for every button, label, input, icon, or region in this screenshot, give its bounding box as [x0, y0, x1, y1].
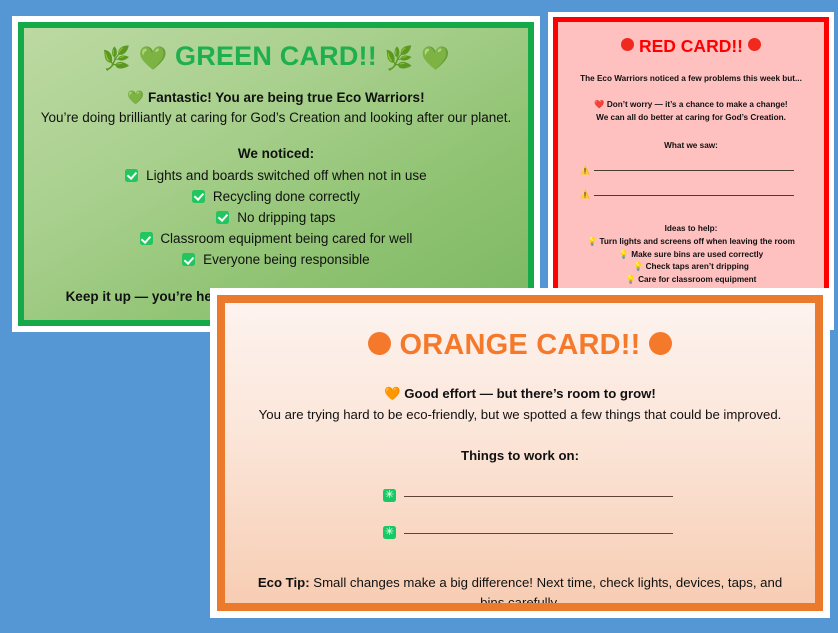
leaf-icon: 🌿: [102, 45, 131, 71]
orange-things-heading: Things to work on:: [247, 446, 793, 465]
red-card-title: RED CARD!!: [568, 36, 814, 57]
green-card-title: 🌿 💚 GREEN CARD!! 🌿 💚: [38, 41, 514, 72]
red-circle-icon: [748, 38, 761, 51]
orange-card-body: 🧡 Good effort — but there’s room to grow…: [247, 384, 793, 611]
red-card: RED CARD!! The Eco Warriors noticed a fe…: [548, 12, 834, 330]
red-idea-item: 💡 Check taps aren’t dripping: [568, 261, 814, 273]
orange-blank-rule[interactable]: [404, 495, 673, 497]
red-idea-label: Turn lights and screens off when leaving…: [600, 237, 795, 246]
red-blank-rule[interactable]: [594, 169, 794, 171]
red-idea-item: 💡 Make sure bins are used correctly: [568, 249, 814, 261]
lightbulb-icon: 💡: [619, 250, 629, 259]
red-intro: The Eco Warriors noticed a few problems …: [568, 73, 814, 85]
red-ideas-heading: Ideas to help:: [568, 223, 814, 235]
leaf-icon: 🌿: [385, 45, 414, 71]
checkbox-checked-icon: [125, 169, 138, 182]
warning-icon: ⚠️: [580, 165, 590, 177]
orange-card-title: ORANGE CARD!!: [247, 329, 793, 362]
green-checklist-label: Everyone being responsible: [203, 252, 370, 267]
red-blank-line[interactable]: ⚠️: [568, 189, 814, 201]
green-lead-sub: You’re doing brilliantly at caring for G…: [38, 108, 514, 127]
lightbulb-icon: 💡: [626, 275, 636, 284]
green-checklist-label: Classroom equipment being cared for well: [160, 231, 412, 246]
green-checklist-label: No dripping taps: [237, 210, 335, 225]
green-checklist-item: No dripping taps: [38, 208, 514, 227]
red-idea-item: 💡 Care for classroom equipment: [568, 274, 814, 286]
green-checklist-label: Recycling done correctly: [213, 189, 360, 204]
orange-card-inner: ORANGE CARD!! 🧡 Good effort — but there’…: [217, 295, 823, 611]
warning-icon: ⚠️: [580, 189, 590, 201]
green-card-title-text: GREEN CARD!!: [175, 41, 377, 71]
green-heart-icon: 💚: [127, 90, 144, 105]
orange-eco-tip-text: Small changes make a big difference! Nex…: [310, 575, 783, 609]
green-lead-strong-text: Fantastic! You are being true Eco Warrio…: [148, 90, 425, 105]
cards-stage: 🌿 💚 GREEN CARD!! 🌿 💚 💚 Fantastic! You ar…: [0, 0, 838, 633]
red-what-we-saw-heading: What we saw:: [568, 140, 814, 152]
orange-blank-line[interactable]: ✳: [247, 489, 793, 502]
orange-trying-hard: You are trying hard to be eco-friendly, …: [247, 405, 793, 424]
green-heart-icon: 💚: [421, 45, 450, 71]
orange-blank-line[interactable]: ✳: [247, 526, 793, 539]
green-heart-icon: 💚: [139, 45, 168, 71]
orange-card-title-text: ORANGE CARD!!: [399, 329, 640, 361]
orange-good-effort: 🧡 Good effort — but there’s room to grow…: [247, 384, 793, 403]
red-idea-label: Care for classroom equipment: [638, 275, 756, 284]
red-dont-worry-text: Don’t worry — it’s a chance to make a ch…: [607, 100, 788, 109]
orange-circle-icon: [649, 332, 672, 355]
red-idea-item: 💡 Turn lights and screens off when leavi…: [568, 236, 814, 248]
green-checklist-item: Classroom equipment being cared for well: [38, 229, 514, 248]
lightbulb-icon: 💡: [587, 237, 597, 246]
red-blank-line[interactable]: ⚠️: [568, 165, 814, 177]
asterisk-icon: ✳: [383, 526, 396, 539]
green-checklist-item: Lights and boards switched off when not …: [38, 166, 514, 185]
red-blank-rule[interactable]: [594, 194, 794, 196]
red-dont-worry: ❤️ Don’t worry — it’s a chance to make a…: [568, 99, 814, 111]
checkbox-checked-icon: [182, 253, 195, 266]
red-we-can: We can all do better at caring for God’s…: [568, 112, 814, 124]
red-circle-icon: [621, 38, 634, 51]
checkbox-checked-icon: [140, 232, 153, 245]
green-lead-strong: 💚 Fantastic! You are being true Eco Warr…: [38, 88, 514, 107]
green-card: 🌿 💚 GREEN CARD!! 🌿 💚 💚 Fantastic! You ar…: [12, 16, 540, 332]
orange-circle-icon: [368, 332, 391, 355]
red-idea-label: Make sure bins are used correctly: [631, 250, 763, 259]
green-checklist-item: Recycling done correctly: [38, 187, 514, 206]
green-checklist-item: Everyone being responsible: [38, 250, 514, 269]
lightbulb-icon: 💡: [633, 262, 643, 271]
green-checklist-label: Lights and boards switched off when not …: [146, 168, 426, 183]
checkbox-checked-icon: [192, 190, 205, 203]
green-noticed-heading: We noticed:: [38, 144, 514, 163]
orange-card: ORANGE CARD!! 🧡 Good effort — but there’…: [210, 288, 830, 618]
asterisk-icon: ✳: [383, 489, 396, 502]
orange-good-effort-text: Good effort — but there’s room to grow!: [404, 386, 656, 401]
red-heart-icon: ❤️: [594, 100, 604, 109]
orange-blank-rule[interactable]: [404, 532, 673, 534]
orange-heart-icon: 🧡: [384, 386, 400, 401]
orange-eco-tip: Eco Tip: Small changes make a big differ…: [247, 573, 793, 611]
red-card-inner: RED CARD!! The Eco Warriors noticed a fe…: [553, 17, 829, 325]
red-idea-label: Check taps aren’t dripping: [646, 262, 749, 271]
orange-eco-tip-label: Eco Tip:: [258, 575, 310, 590]
red-card-title-text: RED CARD!!: [639, 36, 743, 56]
checkbox-checked-icon: [216, 211, 229, 224]
green-card-inner: 🌿 💚 GREEN CARD!! 🌿 💚 💚 Fantastic! You ar…: [18, 22, 534, 326]
